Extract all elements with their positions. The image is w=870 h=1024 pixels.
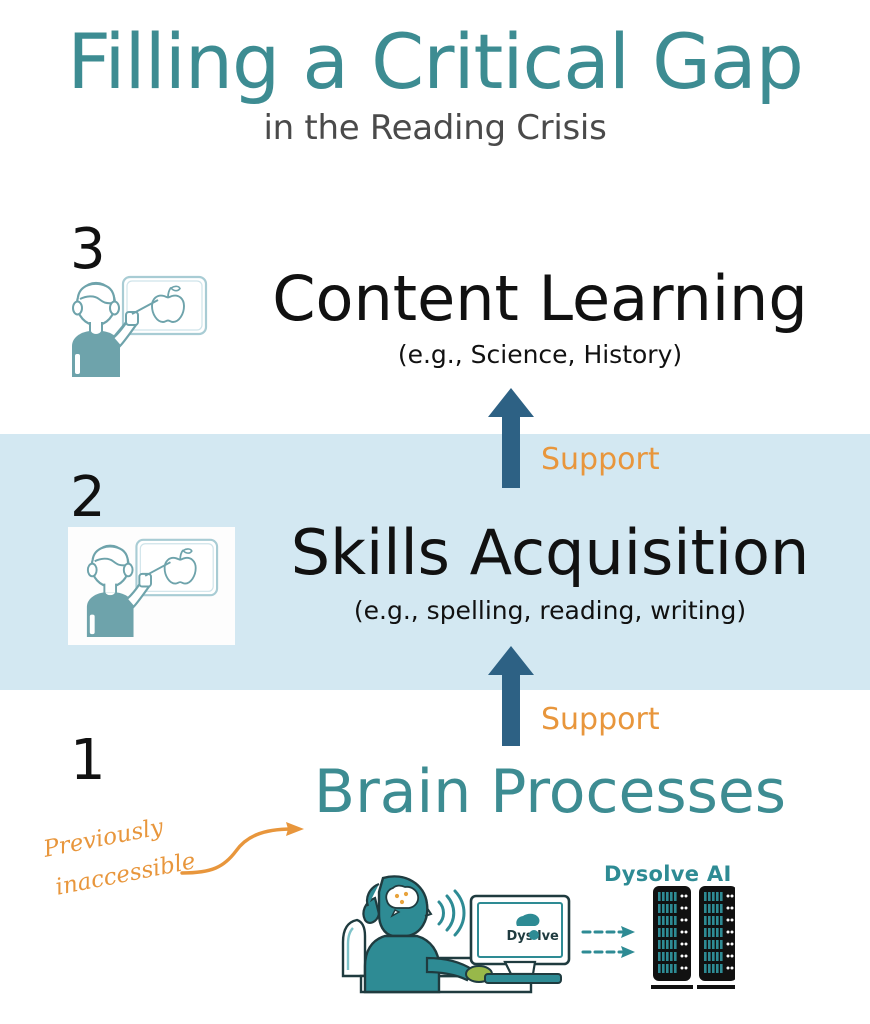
level-3-subtext: (e.g., Science, History) (240, 342, 840, 367)
level-2-heading: Skills Acquisition (250, 522, 850, 584)
page-subtitle: in the Reading Crisis (0, 102, 870, 148)
dysolve-ai-label: Dysolve AI (604, 862, 732, 886)
teacher-whiteboard-apple-icon (80, 535, 223, 642)
level-2-illustration-card (68, 527, 235, 645)
level-3-number: 3 (70, 222, 106, 278)
annotation-line-1: Previously (42, 816, 165, 862)
level-3-heading: Content Learning (240, 268, 840, 330)
level-2-number: 2 (70, 470, 106, 526)
annotation-group: Previously inaccessible (30, 815, 340, 925)
teacher-whiteboard-apple-icon (66, 272, 211, 382)
page-title: Filling a Critical Gap (0, 0, 870, 102)
header: Filling a Critical Gap in the Reading Cr… (0, 0, 870, 148)
level-2-subtext: (e.g., spelling, reading, writing) (250, 598, 850, 623)
support-arrow-upper (487, 388, 535, 493)
support-label-lower: Support (541, 705, 660, 735)
level-1-number: 1 (70, 733, 106, 789)
support-label-upper: Support (541, 445, 660, 475)
annotation-line-2: inaccessible (54, 850, 198, 900)
curved-arrow-icon (180, 815, 325, 890)
support-arrow-lower (487, 646, 535, 751)
svg-text:lve: lve (537, 929, 559, 944)
level-1-heading: Brain Processes (250, 762, 850, 822)
